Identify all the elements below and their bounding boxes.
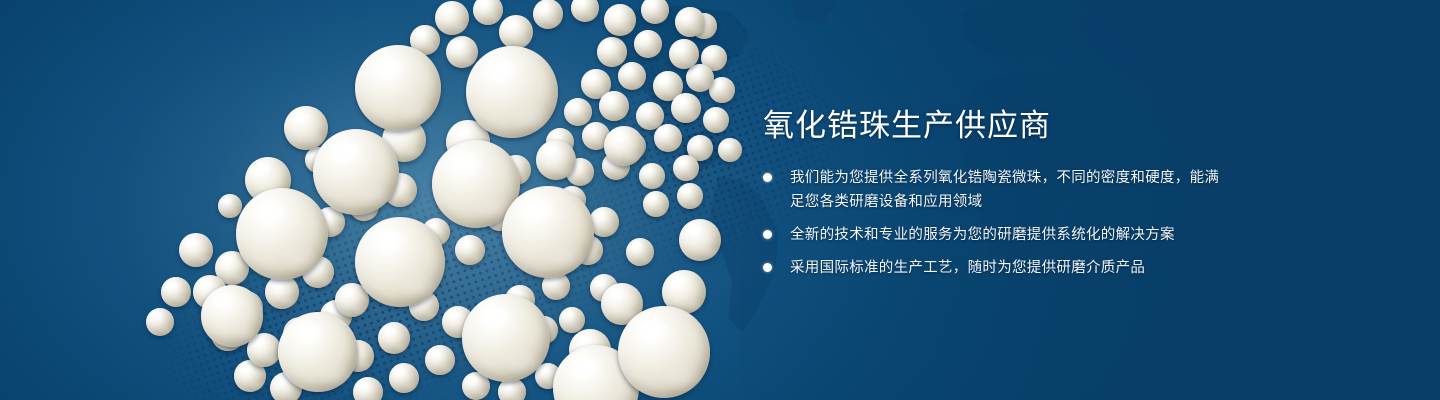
list-item: 我们能为您提供全系列氧化锆陶瓷微珠，不同的密度和硬度，能满足您各类研磨设备和应用… <box>763 166 1233 214</box>
banner-feature-list: 我们能为您提供全系列氧化锆陶瓷微珠，不同的密度和硬度，能满足您各类研磨设备和应用… <box>763 166 1233 280</box>
banner-copy-block: 氧化锆珠生产供应商 我们能为您提供全系列氧化锆陶瓷微珠，不同的密度和硬度，能满足… <box>763 106 1233 280</box>
bullet-dot-icon <box>763 173 772 182</box>
bullet-dot-icon <box>763 230 772 239</box>
list-item-label: 全新的技术和专业的服务为您的研磨提供系统化的解决方案 <box>790 227 1175 243</box>
hero-banner: 氧化锆珠生产供应商 我们能为您提供全系列氧化锆陶瓷微珠，不同的密度和硬度，能满足… <box>0 0 1440 400</box>
list-item: 采用国际标准的生产工艺，随时为您提供研磨介质产品 <box>763 256 1233 280</box>
banner-headline: 氧化锆珠生产供应商 <box>763 106 1233 146</box>
list-item-label: 我们能为您提供全系列氧化锆陶瓷微珠，不同的密度和硬度，能满足您各类研磨设备和应用… <box>790 170 1219 210</box>
list-item-label: 采用国际标准的生产工艺，随时为您提供研磨介质产品 <box>790 260 1145 276</box>
bullet-dot-icon <box>763 263 772 272</box>
list-item: 全新的技术和专业的服务为您的研磨提供系统化的解决方案 <box>763 223 1233 247</box>
